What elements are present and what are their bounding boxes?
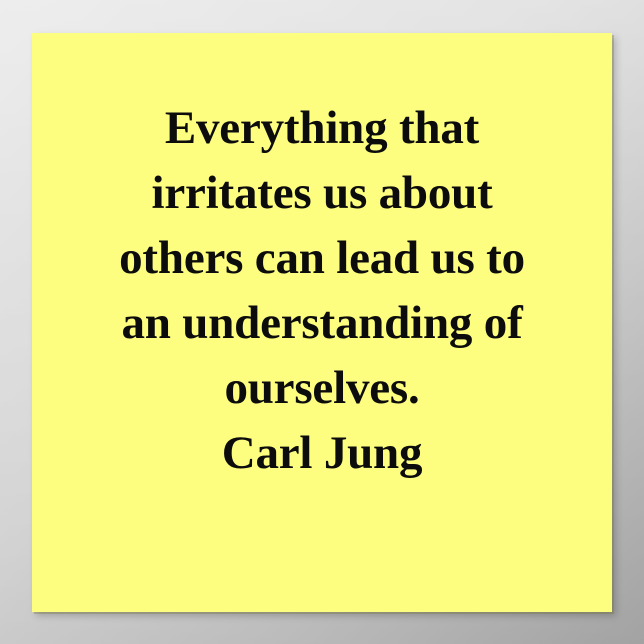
quote-line-5: ourselves. <box>50 356 594 421</box>
quote-line-4: an understanding of <box>50 291 594 356</box>
quote-text-block: Everything that irritates us about other… <box>32 96 612 486</box>
quote-line-1: Everything that <box>50 96 594 161</box>
poster-screenshot: Everything that irritates us about other… <box>0 0 644 644</box>
quote-line-3: others can lead us to <box>50 226 594 291</box>
quote-attribution: Carl Jung <box>50 421 594 486</box>
quote-line-2: irritates us about <box>50 161 594 226</box>
poster-sheet: Everything that irritates us about other… <box>32 33 612 612</box>
